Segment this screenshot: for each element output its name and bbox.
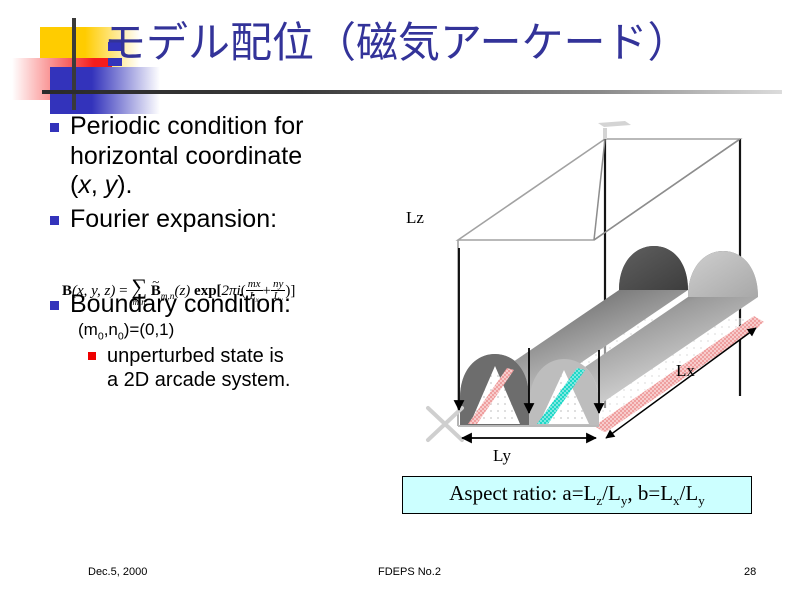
top-tick-mark (598, 121, 631, 139)
sub-bullet-square-icon (88, 352, 96, 360)
footer-date: Dec.5, 2000 (88, 566, 147, 578)
decor-vertical-rule (72, 18, 76, 110)
bullet-square-icon (50, 216, 59, 225)
bullet-square-icon (50, 123, 59, 132)
page-title: モデル配位（磁気アーケード） (104, 22, 689, 64)
footer-event-label: FDEPS No.2 (378, 566, 441, 578)
dimension-label-ly: Ly (493, 446, 511, 466)
magnetic-arcade-diagram: Lz Lx Ly (398, 108, 798, 468)
bullet-periodic-condition: Periodic condition for horizontal coordi… (50, 112, 410, 201)
sub-bullet-line-1: unperturbed state is (107, 345, 284, 367)
formula-2pii: 2πi (222, 283, 241, 299)
formula-b-tilde: ~B (151, 283, 161, 300)
dimension-label-lx: Lx (676, 361, 695, 381)
bullet-fourier-expansion-text: Fourier expansion: (70, 205, 277, 235)
formula-lhs-bold: B (62, 283, 72, 299)
formula-b-sub: m,n (161, 292, 175, 302)
formula-close: )] (285, 283, 295, 299)
formula-plus: + (263, 283, 271, 299)
aspect-ratio-caption-box: Aspect ratio: a=Lz/Ly, b=Lx/Ly (402, 476, 752, 514)
sub-bullet-text: unperturbed state is a 2D arcade system. (107, 344, 290, 392)
summation-symbol: ∑ m,n (131, 276, 147, 307)
bullet-square-icon (50, 301, 59, 310)
arcade-tube-front-cap (688, 251, 758, 297)
coord-y: y (105, 171, 118, 199)
slide-footer: Dec.5, 2000 FDEPS No.2 28 (0, 566, 800, 590)
decor-horizontal-rule (42, 90, 782, 94)
boundary-mode-note: (m0,n0)=(0,1) (78, 320, 410, 342)
formula-equals: = (119, 283, 127, 299)
bullet-line-1: Periodic condition for (70, 112, 303, 140)
slide-body: Periodic condition for horizontal coordi… (50, 112, 410, 392)
aspect-ratio-text: Aspect ratio: a=Lz/Ly, b=Lx/Ly (449, 481, 704, 509)
arcade-tube-back-cap (619, 246, 688, 290)
sub-bullet-unperturbed-state: unperturbed state is a 2D arcade system. (88, 344, 410, 392)
bullet-periodic-condition-text: Periodic condition for horizontal coordi… (70, 112, 303, 201)
bullet-line-3: (x, y). (70, 171, 133, 199)
dimension-label-lz: Lz (406, 208, 424, 228)
bullet-fourier-expansion: Fourier expansion: (50, 205, 410, 235)
footer-page-number: 28 (744, 566, 756, 578)
formula-b-arg: (z) (174, 283, 190, 299)
formula-exp: exp[ (194, 283, 222, 299)
fourier-formula: B(x, y, z) = ∑ m,n ~Bm,n(z) exp[2πi(mxLx… (62, 276, 295, 307)
bullet-line-2: horizontal coordinate (70, 142, 302, 170)
arcade-3d-svg (398, 108, 798, 468)
origin-cross-mark (428, 408, 462, 440)
formula-lhs-args: (x, y, z) (72, 283, 115, 299)
box-diagonal-edges (594, 139, 740, 240)
sub-bullet-line-2: a 2D arcade system. (107, 369, 290, 391)
coord-x: x (78, 171, 91, 199)
formula-fraction-mx-lx: mxLx (246, 279, 263, 305)
formula-fraction-ny-ly: nyLy (271, 279, 285, 305)
